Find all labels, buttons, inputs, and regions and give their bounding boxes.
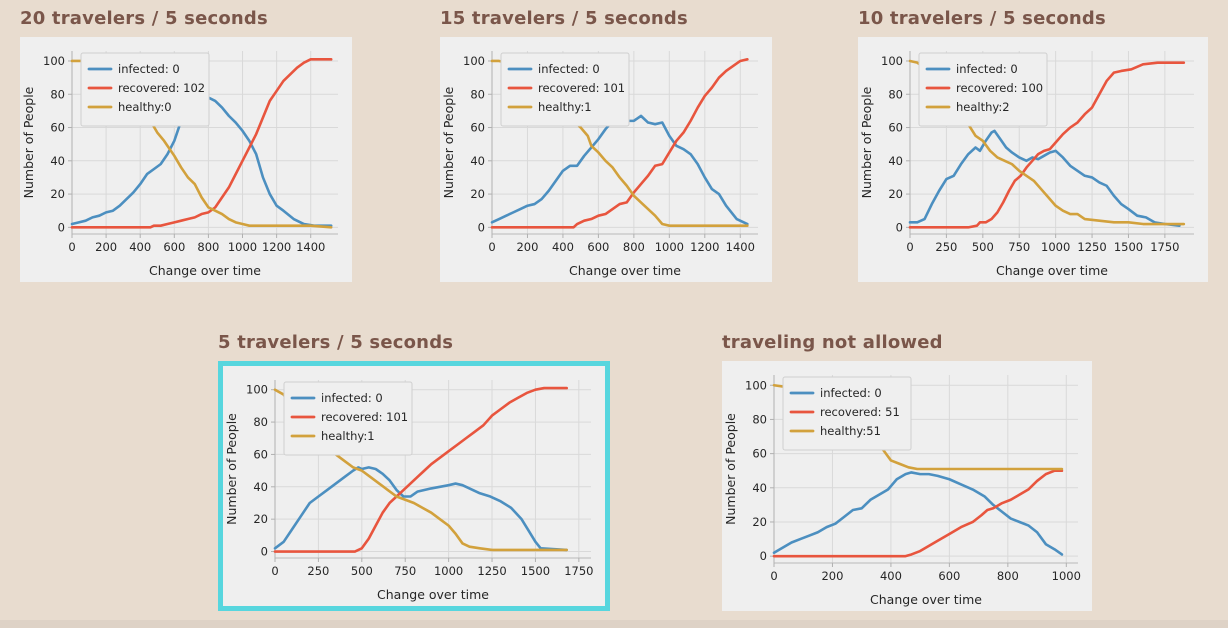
series-line-infected	[774, 472, 1062, 554]
plot-panel[interactable]: 02040608010002004006008001000Change over…	[722, 361, 1092, 611]
chart-svg: 0204060801000200400600800100012001400Cha…	[20, 37, 352, 282]
svg-text:20: 20	[888, 187, 903, 201]
svg-text:0: 0	[478, 220, 485, 234]
svg-text:80: 80	[752, 412, 767, 426]
svg-text:1500: 1500	[521, 564, 550, 578]
legend-label-recovered: recovered: 51	[820, 405, 900, 419]
svg-text:100: 100	[43, 54, 65, 68]
chart-svg: 02040608010002004006008001000Change over…	[722, 361, 1092, 611]
legend-label-healthy: healthy:1	[321, 429, 375, 443]
y-axis-label: Number of People	[723, 413, 738, 525]
legend-label-healthy: healthy:1	[538, 100, 592, 114]
svg-text:1200: 1200	[262, 240, 291, 254]
x-axis-label: Change over time	[377, 587, 489, 602]
x-axis-label: Change over time	[149, 263, 261, 278]
chart-legend: infected: 0recovered: 100healthy:2	[919, 53, 1047, 126]
series-line-recovered	[774, 471, 1062, 556]
x-axis-label: Change over time	[996, 263, 1108, 278]
chart-legend: infected: 0recovered: 102healthy:0	[81, 53, 209, 126]
svg-text:1250: 1250	[1077, 240, 1106, 254]
dashboard-page: 20 travelers / 5 seconds0204060801000200…	[0, 0, 1228, 628]
chart-legend: infected: 0recovered: 51healthy:51	[783, 377, 911, 450]
svg-text:0: 0	[488, 240, 495, 254]
svg-text:60: 60	[50, 121, 65, 135]
svg-text:0: 0	[896, 220, 903, 234]
svg-text:0: 0	[271, 564, 278, 578]
svg-text:500: 500	[972, 240, 994, 254]
plot-panel[interactable]: 0204060801000200400600800100012001400Cha…	[440, 37, 772, 282]
bottom-divider	[0, 620, 1228, 628]
panel-20-travelers: 20 travelers / 5 seconds0204060801000200…	[20, 8, 352, 282]
y-axis-label: Number of People	[859, 86, 874, 198]
panel-title: 20 travelers / 5 seconds	[20, 8, 352, 29]
x-axis-label: Change over time	[870, 592, 982, 607]
svg-text:400: 400	[880, 569, 902, 583]
svg-text:1000: 1000	[228, 240, 257, 254]
chart-legend: infected: 0recovered: 101healthy:1	[501, 53, 629, 126]
y-axis-label: Number of People	[21, 86, 36, 198]
panel-title: traveling not allowed	[722, 332, 1092, 353]
svg-text:20: 20	[253, 512, 268, 526]
legend-label-recovered: recovered: 102	[118, 81, 205, 95]
series-line-infected	[910, 131, 1179, 226]
svg-text:40: 40	[253, 480, 268, 494]
svg-text:40: 40	[752, 481, 767, 495]
svg-text:100: 100	[881, 54, 903, 68]
svg-text:40: 40	[470, 154, 485, 168]
svg-text:1000: 1000	[655, 240, 684, 254]
chart-svg: 02040608010002505007501000125015001750Ch…	[858, 37, 1208, 282]
svg-text:1000: 1000	[1052, 569, 1081, 583]
svg-text:60: 60	[253, 447, 268, 461]
svg-text:400: 400	[552, 240, 574, 254]
svg-text:1500: 1500	[1114, 240, 1143, 254]
svg-text:400: 400	[129, 240, 151, 254]
legend-label-healthy: healthy:0	[118, 100, 172, 114]
svg-text:40: 40	[888, 154, 903, 168]
legend-label-infected: infected: 0	[321, 391, 383, 405]
chart-legend: infected: 0recovered: 101healthy:1	[284, 382, 412, 455]
panel-5-travelers: 5 travelers / 5 seconds02040608010002505…	[218, 332, 610, 611]
svg-text:1000: 1000	[434, 564, 463, 578]
legend-label-infected: infected: 0	[820, 386, 882, 400]
svg-text:600: 600	[938, 569, 960, 583]
plot-panel[interactable]: 0204060801000200400600800100012001400Cha…	[20, 37, 352, 282]
svg-text:80: 80	[50, 87, 65, 101]
svg-text:80: 80	[253, 415, 268, 429]
svg-text:1400: 1400	[726, 240, 755, 254]
svg-text:20: 20	[470, 187, 485, 201]
y-axis-label: Number of People	[224, 413, 239, 525]
svg-text:250: 250	[935, 240, 957, 254]
svg-text:500: 500	[351, 564, 373, 578]
panel-10-travelers: 10 travelers / 5 seconds0204060801000250…	[858, 8, 1208, 282]
svg-text:200: 200	[95, 240, 117, 254]
svg-text:0: 0	[770, 569, 777, 583]
legend-label-recovered: recovered: 101	[321, 410, 408, 424]
svg-text:0: 0	[68, 240, 75, 254]
svg-text:60: 60	[752, 447, 767, 461]
legend-label-infected: infected: 0	[956, 62, 1018, 76]
panel-no-traveling: traveling not allowed0204060801000200400…	[722, 332, 1092, 611]
x-axis-label: Change over time	[569, 263, 681, 278]
svg-text:800: 800	[623, 240, 645, 254]
svg-text:250: 250	[307, 564, 329, 578]
svg-text:0: 0	[760, 549, 767, 563]
svg-text:100: 100	[246, 383, 268, 397]
legend-label-infected: infected: 0	[538, 62, 600, 76]
svg-text:1750: 1750	[564, 564, 593, 578]
plot-panel[interactable]: 02040608010002505007501000125015001750Ch…	[858, 37, 1208, 282]
legend-label-healthy: healthy:2	[956, 100, 1010, 114]
svg-text:0: 0	[906, 240, 913, 254]
svg-text:20: 20	[752, 515, 767, 529]
svg-text:800: 800	[197, 240, 219, 254]
svg-text:1400: 1400	[296, 240, 325, 254]
legend-label-healthy: healthy:51	[820, 424, 881, 438]
svg-text:100: 100	[463, 54, 485, 68]
panel-title: 5 travelers / 5 seconds	[218, 332, 610, 353]
svg-text:100: 100	[745, 378, 767, 392]
chart-svg: 0204060801000200400600800100012001400Cha…	[440, 37, 772, 282]
svg-text:60: 60	[470, 121, 485, 135]
svg-text:1000: 1000	[1041, 240, 1070, 254]
panel-title: 10 travelers / 5 seconds	[858, 8, 1208, 29]
svg-text:600: 600	[163, 240, 185, 254]
svg-text:200: 200	[516, 240, 538, 254]
legend-label-recovered: recovered: 101	[538, 81, 625, 95]
svg-text:40: 40	[50, 154, 65, 168]
legend-label-infected: infected: 0	[118, 62, 180, 76]
svg-text:600: 600	[587, 240, 609, 254]
svg-text:60: 60	[888, 121, 903, 135]
svg-text:1750: 1750	[1150, 240, 1179, 254]
plot-panel-selected[interactable]: 02040608010002505007501000125015001750Ch…	[218, 361, 610, 611]
svg-text:200: 200	[821, 569, 843, 583]
svg-text:0: 0	[261, 545, 268, 559]
panel-title: 15 travelers / 5 seconds	[440, 8, 772, 29]
svg-text:1250: 1250	[477, 564, 506, 578]
y-axis-label: Number of People	[441, 86, 456, 198]
svg-text:1200: 1200	[690, 240, 719, 254]
series-line-infected	[492, 116, 747, 224]
svg-text:750: 750	[394, 564, 416, 578]
svg-text:80: 80	[470, 87, 485, 101]
svg-text:20: 20	[50, 187, 65, 201]
svg-text:80: 80	[888, 87, 903, 101]
legend-label-recovered: recovered: 100	[956, 81, 1043, 95]
chart-svg: 02040608010002505007501000125015001750Ch…	[223, 366, 605, 606]
panel-15-travelers: 15 travelers / 5 seconds0204060801000200…	[440, 8, 772, 282]
svg-text:750: 750	[1008, 240, 1030, 254]
svg-text:0: 0	[58, 220, 65, 234]
svg-text:800: 800	[997, 569, 1019, 583]
